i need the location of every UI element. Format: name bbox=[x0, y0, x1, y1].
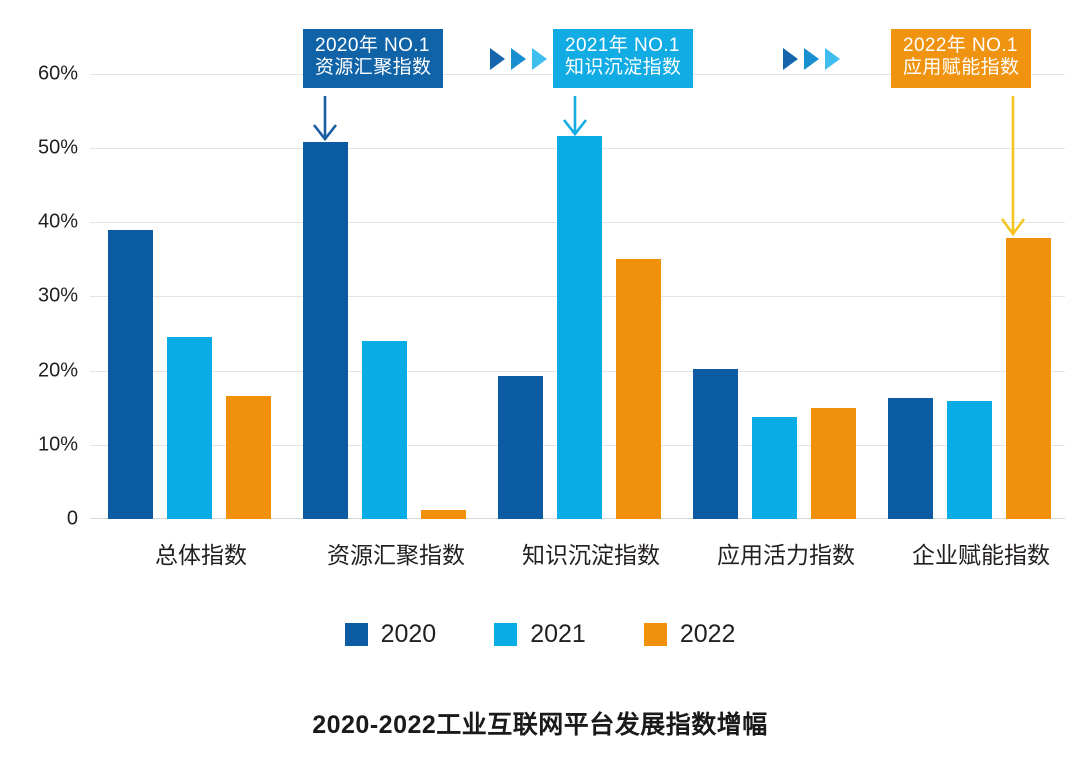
bar-group-2 bbox=[498, 74, 661, 519]
callout-2021-line2: 知识沉淀指数 bbox=[565, 57, 681, 79]
ytick-label-40: 40% bbox=[12, 211, 78, 234]
separator-1 bbox=[490, 48, 547, 70]
bar-2020-1[interactable] bbox=[303, 142, 348, 520]
legend-item-2020[interactable]: 2020 bbox=[345, 620, 437, 649]
bar-group-1 bbox=[303, 74, 466, 519]
ytick-label-30: 30% bbox=[12, 285, 78, 308]
triangle-right-icon bbox=[825, 48, 840, 70]
callout-2021: 2021年 NO.1 知识沉淀指数 bbox=[553, 29, 693, 88]
bar-2021-0[interactable] bbox=[167, 337, 212, 519]
bar-group-3 bbox=[693, 74, 856, 519]
callout-2020: 2020年 NO.1 资源汇聚指数 bbox=[303, 29, 443, 88]
chart-title: 2020-2022工业互联网平台发展指数增幅 bbox=[0, 705, 1080, 741]
ytick-label-50: 50% bbox=[12, 137, 78, 160]
legend-label: 2021 bbox=[530, 620, 586, 649]
legend-label: 2020 bbox=[381, 620, 437, 649]
separator-2 bbox=[783, 48, 840, 70]
chart-legend: 202020212022 bbox=[0, 620, 1080, 649]
ytick-label-20: 20% bbox=[12, 360, 78, 383]
bar-2021-1[interactable] bbox=[362, 341, 407, 519]
callout-2022: 2022年 NO.1 应用赋能指数 bbox=[891, 29, 1031, 88]
bar-2022-1[interactable] bbox=[421, 510, 466, 519]
callout-2022-line2: 应用赋能指数 bbox=[903, 57, 1019, 79]
ytick-label-0: 0 bbox=[12, 508, 78, 531]
bar-2022-0[interactable] bbox=[226, 396, 271, 519]
bar-2021-4[interactable] bbox=[947, 401, 992, 519]
bar-2020-0[interactable] bbox=[108, 230, 153, 519]
callout-2021-line1: 2021年 NO.1 bbox=[565, 35, 680, 56]
bar-2021-2[interactable] bbox=[557, 136, 602, 519]
bar-group-0 bbox=[108, 74, 271, 519]
legend-item-2022[interactable]: 2022 bbox=[644, 620, 736, 649]
bar-group-4 bbox=[888, 74, 1051, 519]
legend-label: 2022 bbox=[680, 620, 736, 649]
ytick-label-60: 60% bbox=[12, 63, 78, 86]
bar-2022-4[interactable] bbox=[1006, 238, 1051, 519]
bar-2020-4[interactable] bbox=[888, 398, 933, 519]
legend-item-2021[interactable]: 2021 bbox=[494, 620, 586, 649]
callout-2020-line2: 资源汇聚指数 bbox=[315, 57, 431, 79]
bar-2022-3[interactable] bbox=[811, 408, 856, 519]
triangle-right-icon bbox=[532, 48, 547, 70]
triangle-right-icon bbox=[511, 48, 526, 70]
legend-swatch-icon bbox=[644, 623, 667, 646]
legend-swatch-icon bbox=[345, 623, 368, 646]
triangle-right-icon bbox=[783, 48, 798, 70]
bar-chart: 60% 50% 40% 30% 20% 10% 0 总体指数 资源汇聚指数 知识… bbox=[0, 0, 1080, 759]
triangle-right-icon bbox=[804, 48, 819, 70]
bar-2021-3[interactable] bbox=[752, 417, 797, 519]
category-label-4: 企业赋能指数 bbox=[866, 536, 1080, 570]
triangle-right-icon bbox=[490, 48, 505, 70]
bar-2020-2[interactable] bbox=[498, 376, 543, 519]
callout-2022-line1: 2022年 NO.1 bbox=[903, 35, 1018, 56]
bar-2022-2[interactable] bbox=[616, 259, 661, 519]
callout-2020-line1: 2020年 NO.1 bbox=[315, 35, 430, 56]
legend-swatch-icon bbox=[494, 623, 517, 646]
ytick-label-10: 10% bbox=[12, 434, 78, 457]
bar-2020-3[interactable] bbox=[693, 369, 738, 519]
plot-area: 60% 50% 40% 30% 20% 10% 0 总体指数 资源汇聚指数 知识… bbox=[90, 74, 1065, 519]
